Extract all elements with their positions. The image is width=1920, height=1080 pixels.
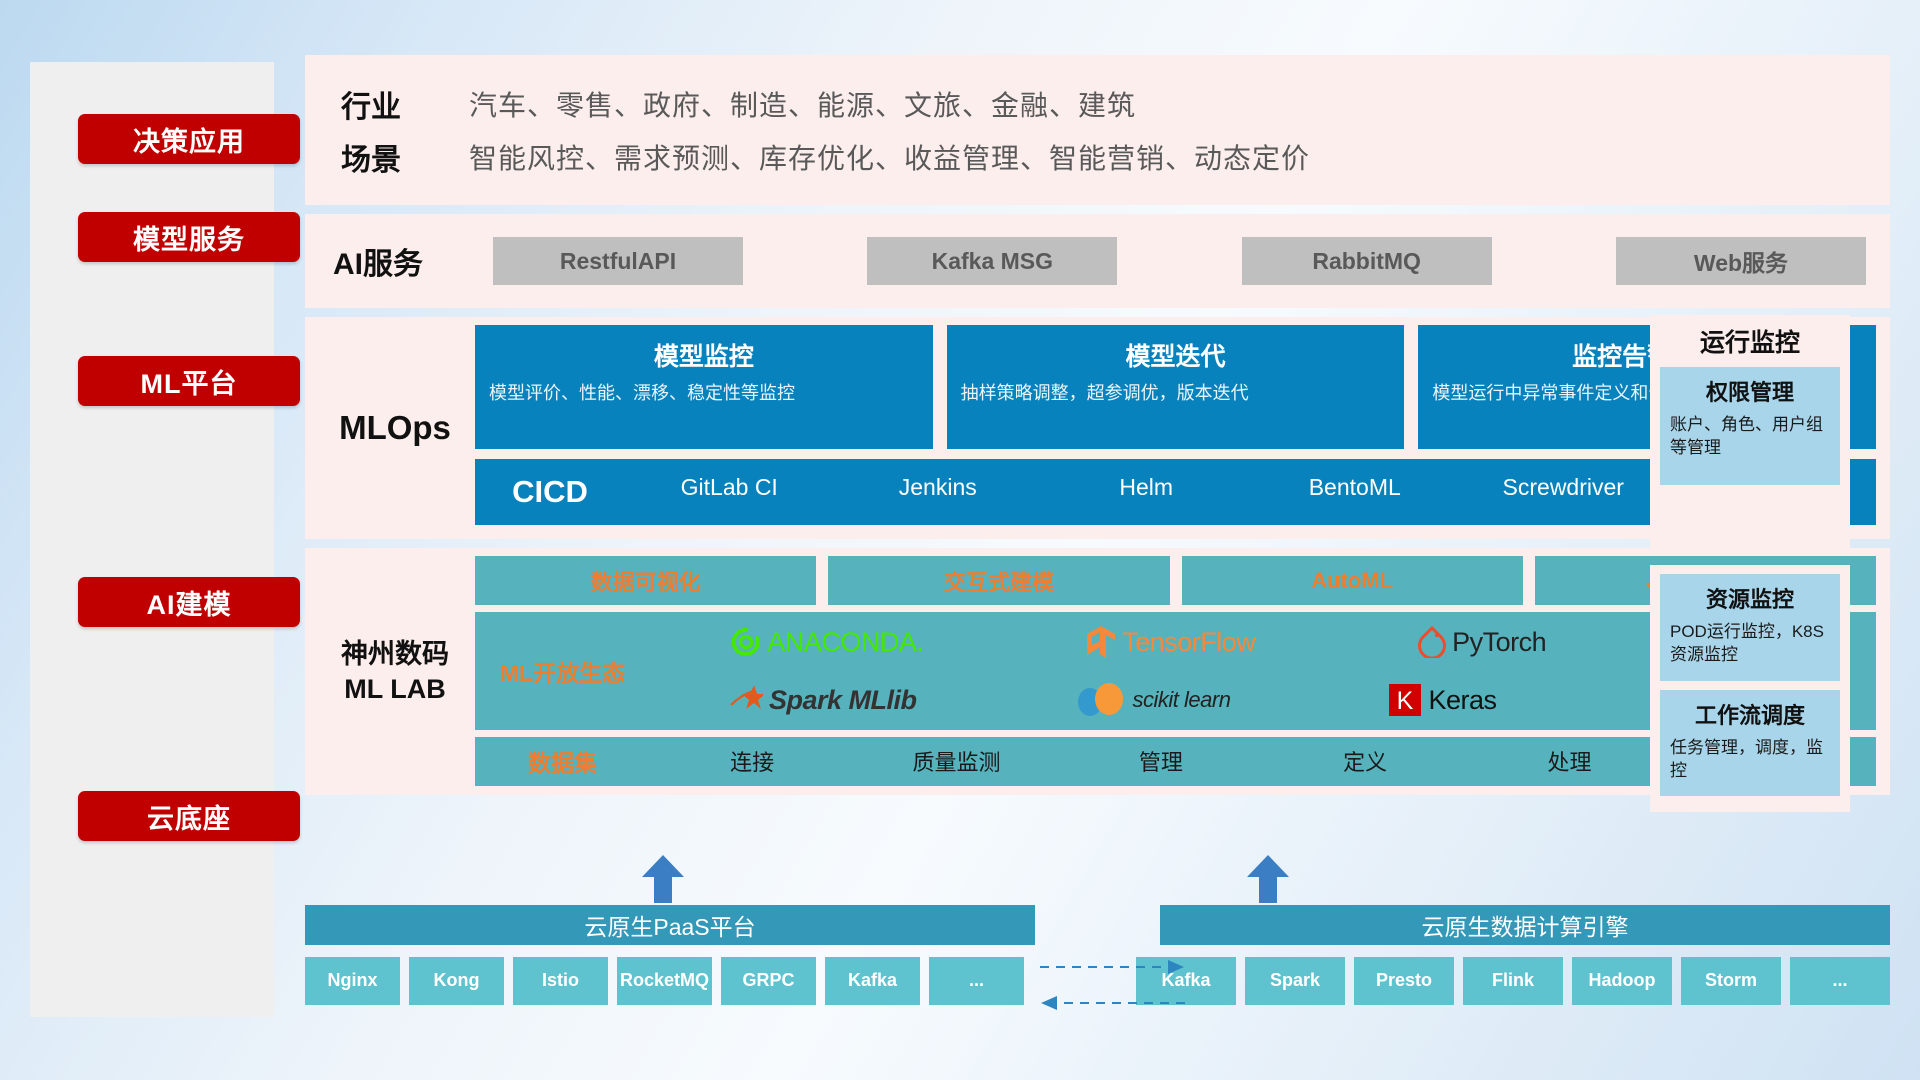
tensorflow-logo: TensorFlow [1086, 625, 1255, 659]
chip-istio[interactable]: Istio [513, 957, 608, 1005]
keras-label: Keras [1428, 685, 1496, 716]
mllab-tab-interactive-modeling[interactable]: 交互式建模 [828, 556, 1169, 605]
sidebar-item-ml-platform[interactable]: ML平台 [78, 356, 300, 406]
card-title: 模型监控 [489, 337, 919, 373]
paas-platform-bar[interactable]: 云原生PaaS平台 [305, 905, 1035, 945]
dataset-label: 数据集 [475, 744, 650, 778]
chip-grpc[interactable]: GRPC [721, 957, 816, 1005]
mllab-label-line2: ML LAB [344, 674, 446, 704]
anaconda-logo: ANACONDA. [731, 627, 923, 658]
cicd-tool-screwdriver[interactable]: Screwdriver [1459, 475, 1668, 509]
ai-service-label: AI服务 [333, 239, 493, 283]
dataset-item-connect[interactable]: 连接 [650, 745, 854, 777]
scikit-learn-logo: scikit learn [1075, 683, 1231, 717]
mllab-tab-automl[interactable]: AutoML [1182, 556, 1523, 605]
monitor-card-resource[interactable]: 资源监控 POD运行监控，K8S资源监控 [1660, 574, 1840, 681]
pytorch-logo: PyTorch [1418, 626, 1546, 658]
mlops-label: MLOps [305, 317, 475, 539]
ml-ecosystem-label: ML开放生态 [475, 654, 650, 688]
scenario-row: 场景 智能风控、需求预测、库存优化、收益管理、智能营销、动态定价 [341, 135, 1310, 179]
dataset-item-process[interactable]: 处理 [1467, 745, 1671, 777]
chip-more-right[interactable]: ... [1790, 957, 1890, 1005]
ai-service-kafka-msg[interactable]: Kafka MSG [867, 237, 1117, 285]
chip-hadoop[interactable]: Hadoop [1572, 957, 1672, 1005]
compute-chip-list: Kafka Spark Presto Flink Hadoop Storm ..… [1136, 957, 1890, 1005]
sidebar-item-model-service[interactable]: 模型服务 [78, 212, 300, 262]
scikit-learn-label: scikit learn [1133, 687, 1231, 713]
dataset-item-manage[interactable]: 管理 [1059, 745, 1263, 777]
scenario-key: 场景 [341, 135, 469, 179]
keras-icon: K [1388, 683, 1422, 717]
arrow-up-paas-icon [640, 855, 686, 903]
mlops-card-model-monitoring[interactable]: 模型监控 模型评价、性能、漂移、稳定性等监控 [475, 325, 933, 449]
cicd-tool-helm[interactable]: Helm [1042, 475, 1251, 509]
card-desc: 账户、角色、用户组等管理 [1670, 413, 1830, 460]
monitor-card-workflow[interactable]: 工作流调度 任务管理，调度，监控 [1660, 690, 1840, 796]
tensorflow-label: TensorFlow [1122, 627, 1255, 658]
card-desc: POD运行监控，K8S资源监控 [1670, 620, 1830, 667]
ai-service-rabbitmq[interactable]: RabbitMQ [1242, 237, 1492, 285]
ai-service-restfulapi[interactable]: RestfulAPI [493, 237, 743, 285]
mllab-label: 神州数码 ML LAB [305, 548, 475, 795]
cicd-tool-gitlab-ci[interactable]: GitLab CI [625, 475, 834, 509]
spark-icon [729, 683, 763, 717]
card-desc: 模型评价、性能、漂移、稳定性等监控 [489, 381, 919, 405]
pytorch-icon [1418, 626, 1446, 658]
cicd-tool-jenkins[interactable]: Jenkins [834, 475, 1043, 509]
scenario-value: 智能风控、需求预测、库存优化、收益管理、智能营销、动态定价 [469, 137, 1310, 177]
card-desc: 抽样策略调整，超参调优，版本迭代 [961, 381, 1391, 405]
spark-mllib-label: Spark MLlib [769, 685, 917, 716]
card-title: 模型迭代 [961, 337, 1391, 373]
chip-more-left[interactable]: ... [929, 957, 1024, 1005]
sidebar-item-cloud-base[interactable]: 云底座 [78, 791, 300, 841]
monitor-title: 运行监控 [1650, 315, 1850, 367]
keras-logo: K Keras [1388, 683, 1496, 717]
pytorch-label: PyTorch [1452, 627, 1546, 658]
chip-presto[interactable]: Presto [1354, 957, 1454, 1005]
card-desc: 任务管理，调度，监控 [1670, 736, 1830, 783]
industry-row: 行业 汽车、零售、政府、制造、能源、文旅、金融、建筑 [341, 82, 1310, 126]
cicd-tool-bentoml[interactable]: BentoML [1251, 475, 1460, 509]
tensorflow-icon [1086, 625, 1116, 659]
card-title: 工作流调度 [1670, 698, 1830, 730]
mllab-tab-data-visualization[interactable]: 数据可视化 [475, 556, 816, 605]
paas-chip-list: Nginx Kong Istio RocketMQ GRPC Kafka ... [305, 957, 1024, 1005]
chip-nginx[interactable]: Nginx [305, 957, 400, 1005]
chip-kong[interactable]: Kong [409, 957, 504, 1005]
diagram-canvas: 决策应用 模型服务 ML平台 AI建模 云底座 行业 汽车、零售、政府、制造、能… [0, 0, 1920, 1080]
mllab-label-line1: 神州数码 [341, 639, 449, 669]
monitor-card-permission[interactable]: 权限管理 账户、角色、用户组等管理 [1660, 367, 1840, 485]
chip-rocketmq[interactable]: RocketMQ [617, 957, 712, 1005]
card-title: 权限管理 [1670, 375, 1830, 407]
monitor-band-top: 运行监控 权限管理 账户、角色、用户组等管理 [1650, 315, 1850, 556]
monitor-band-bottom: 资源监控 POD运行监控，K8S资源监控 工作流调度 任务管理，调度，监控 [1650, 565, 1850, 812]
ai-service-web[interactable]: Web服务 [1616, 237, 1866, 285]
dataset-item-quality[interactable]: 质量监测 [854, 745, 1058, 777]
industry-key: 行业 [341, 82, 469, 126]
chip-kafka[interactable]: Kafka [825, 957, 920, 1005]
industry-band: 行业 汽车、零售、政府、制造、能源、文旅、金融、建筑 场景 智能风控、需求预测、… [305, 55, 1890, 205]
anaconda-icon [731, 627, 761, 657]
cloud-link-arrows-icon [1040, 955, 1185, 1015]
svg-text:K: K [1397, 687, 1414, 715]
chip-spark[interactable]: Spark [1245, 957, 1345, 1005]
chip-storm[interactable]: Storm [1681, 957, 1781, 1005]
dataset-item-define[interactable]: 定义 [1263, 745, 1467, 777]
spark-mllib-logo: Spark MLlib [729, 683, 917, 717]
scikit-learn-icon [1075, 683, 1127, 717]
sidebar-item-decision-app[interactable]: 决策应用 [78, 114, 300, 164]
chip-flink[interactable]: Flink [1463, 957, 1563, 1005]
cicd-label: CICD [475, 474, 625, 510]
left-rail: 决策应用 模型服务 ML平台 AI建模 云底座 [30, 62, 274, 1017]
data-compute-engine-bar[interactable]: 云原生数据计算引擎 [1160, 905, 1890, 945]
monitor-panel: 运行监控 权限管理 账户、角色、用户组等管理 资源监控 POD运行监控，K8S资… [1650, 315, 1850, 812]
ai-service-band: AI服务 RestfulAPI Kafka MSG RabbitMQ Web服务 [305, 214, 1890, 308]
mlops-card-model-iteration[interactable]: 模型迭代 抽样策略调整，超参调优，版本迭代 [947, 325, 1405, 449]
industry-value: 汽车、零售、政府、制造、能源、文旅、金融、建筑 [469, 84, 1136, 124]
card-title: 资源监控 [1670, 582, 1830, 614]
anaconda-label: ANACONDA. [767, 627, 923, 658]
arrow-up-compute-icon [1245, 855, 1291, 903]
sidebar-item-ai-modeling[interactable]: AI建模 [78, 577, 300, 627]
